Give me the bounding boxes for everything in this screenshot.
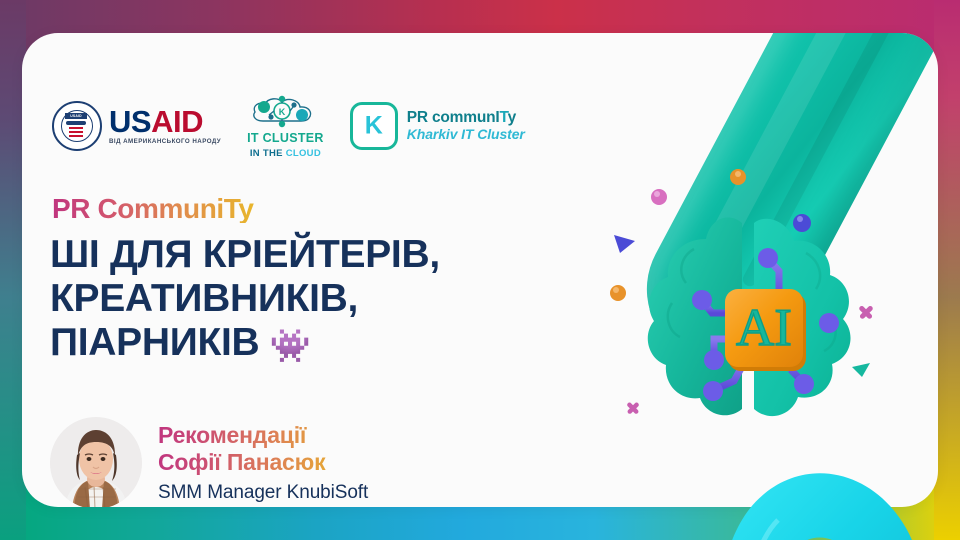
presentation-slide: USAID USAID ВІД АМЕРИКАНСЬКОГО НАРОДУ bbox=[0, 0, 960, 540]
logo-row: USAID USAID ВІД АМЕРИКАНСЬКОГО НАРОДУ bbox=[52, 95, 525, 157]
usaid-seal-label: USAID bbox=[65, 113, 87, 119]
pr-community-mark-letter: K bbox=[353, 114, 395, 139]
pr-community-subtitle: Kharkiv IT Cluster bbox=[407, 127, 525, 143]
teal-triangle bbox=[852, 363, 870, 377]
headline-line-1: ШІ ДЛЯ КРІЕЙТЕРІВ, bbox=[50, 233, 590, 277]
magenta-cross-right bbox=[858, 305, 874, 320]
usaid-word-aid: AID bbox=[151, 104, 203, 139]
speaker-details: Рекомендації Софії Панасюк SMM Manager K… bbox=[158, 422, 368, 503]
eyebrow-label: PR CommuniTy bbox=[52, 195, 254, 223]
it-cluster-logo: K IT CLUSTER IN THE CLOUD bbox=[247, 94, 324, 158]
avatar bbox=[50, 417, 142, 507]
usaid-wordmark: USAID ВІД АМЕРИКАНСЬКОГО НАРОДУ bbox=[109, 106, 221, 145]
avatar-photo bbox=[50, 417, 142, 507]
it-cluster-line2-light: CLOUD bbox=[286, 148, 321, 159]
pr-community-mark-icon: K bbox=[350, 102, 398, 150]
blue-sphere bbox=[793, 214, 811, 232]
usaid-tagline: ВІД АМЕРИКАНСЬКОГО НАРОДУ bbox=[109, 139, 221, 145]
usaid-word-us: US bbox=[109, 104, 151, 139]
usaid-seal-icon: USAID bbox=[52, 101, 102, 151]
headline-line-2: КРЕАТИВНИКІВ, bbox=[50, 277, 590, 321]
cloud-network-icon: K bbox=[247, 94, 323, 130]
speaker-name-line-2: Софії Панасюк bbox=[158, 449, 368, 475]
svg-text:K: K bbox=[279, 107, 286, 117]
magenta-cross-bottom bbox=[626, 402, 639, 415]
alien-monster-icon: 👾 bbox=[270, 327, 311, 364]
pink-sphere bbox=[651, 189, 667, 205]
pr-community-name: PR communITy bbox=[407, 109, 525, 126]
headline-line-3: ПІАРНИКІВ bbox=[50, 321, 259, 364]
it-cluster-line2-dark: IN THE bbox=[250, 148, 286, 159]
pr-community-name-tail: y bbox=[508, 109, 516, 126]
pr-community-logo: K PR communITy Kharkiv IT Cluster bbox=[350, 102, 525, 150]
orange-sphere-left bbox=[610, 285, 626, 301]
ai-chip-label: AI bbox=[736, 299, 792, 357]
ai-brain-illustration: AI bbox=[594, 153, 924, 453]
usaid-logo: USAID USAID ВІД АМЕРИКАНСЬКОГО НАРОДУ bbox=[52, 101, 221, 151]
blue-triangle bbox=[614, 235, 635, 253]
pr-community-name-accent: T bbox=[499, 109, 507, 126]
speaker-role: SMM Manager KnubiSoft bbox=[158, 482, 368, 504]
page-title: ШІ ДЛЯ КРІЕЙТЕРІВ, КРЕАТИВНИКІВ, ПІАРНИК… bbox=[50, 233, 590, 365]
speaker-block: Рекомендації Софії Панасюк SMM Manager K… bbox=[50, 417, 368, 507]
ai-chip: AI bbox=[725, 289, 806, 371]
slide-card: USAID USAID ВІД АМЕРИКАНСЬКОГО НАРОДУ bbox=[22, 33, 938, 507]
it-cluster-line1: IT CLUSTER bbox=[247, 132, 324, 145]
speaker-name-line-1: Рекомендації bbox=[158, 422, 368, 448]
pr-community-name-main: PR communI bbox=[407, 109, 500, 126]
